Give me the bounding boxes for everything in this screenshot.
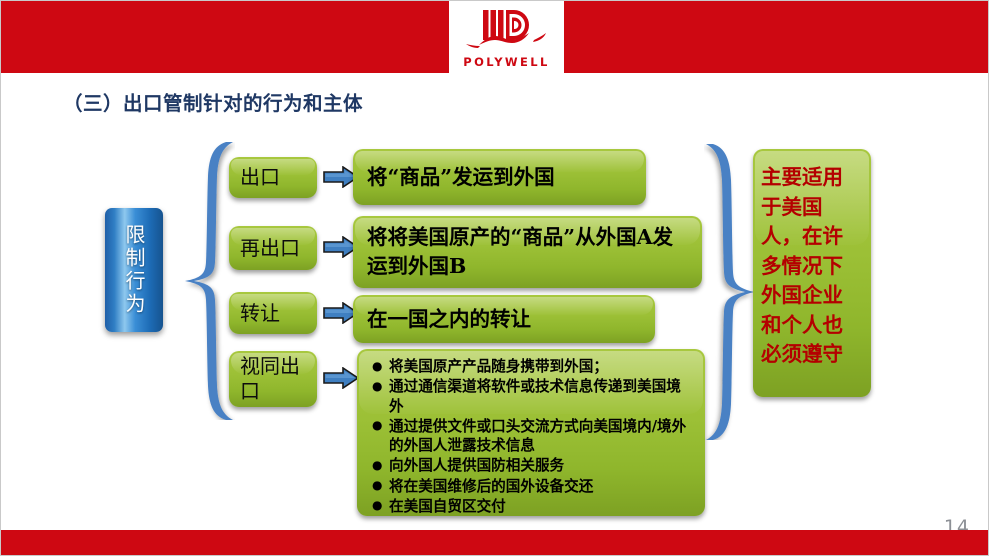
branch-content-export: 将“商品”发运到外国 <box>353 149 646 205</box>
list-item: 将美国原产产品随身携带到外国； <box>387 357 693 377</box>
list-item: 向外国人提供国防相关服务 <box>387 456 693 476</box>
branch-label-transfer: 转让 <box>229 292 317 334</box>
deemed-export-bullet-list: 将美国原产产品随身携带到外国； 通过通信渠道将软件或技术信息传递到美国境外 通过… <box>371 357 693 516</box>
branch-content-transfer: 在一国之内的转让 <box>353 295 655 343</box>
left-brace-icon <box>183 142 235 424</box>
right-brace-icon <box>704 144 756 444</box>
branch-label-text: 再出口 <box>240 236 300 261</box>
branch-label-text: 转让 <box>240 301 280 326</box>
arrow-right-icon <box>323 367 359 389</box>
list-item: 通过通信渠道将软件或技术信息传递到美国境外 <box>387 377 693 416</box>
conclusion-box: 主要适用于美国人，在许多情况下外国企业和个人也必须遵守 <box>753 149 871 397</box>
branch-content-text: 将将美国原产的“商品”从外国A发运到外国B <box>367 223 688 281</box>
list-item: 将在美国维修后的国外设备交还 <box>387 477 693 497</box>
bottom-red-banner <box>1 530 989 556</box>
restricted-behavior-box: 限制行为 <box>105 208 163 332</box>
list-item: 在美国自贸区交付 <box>387 497 693 517</box>
branch-label-text: 视同出口 <box>240 354 306 404</box>
branch-content-reexport: 将将美国原产的“商品”从外国A发运到外国B <box>353 216 702 288</box>
restricted-behavior-label: 限制行为 <box>120 224 148 316</box>
polywell-wordmark: POLYWELL <box>463 56 549 68</box>
slide-canvas: POLYWELL （三）出口管制针对的行为和主体 限制行为 出口 再出口 转让 … <box>0 0 989 556</box>
polywell-p-logo-icon <box>461 7 553 55</box>
branch-content-deemed-export: 将美国原产产品随身携带到外国； 通过通信渠道将软件或技术信息传递到美国境外 通过… <box>357 349 705 516</box>
page-title: （三）出口管制针对的行为和主体 <box>63 87 363 116</box>
list-item: 通过提供文件或口头交流方式向美国境内/境外的外国人泄露技术信息 <box>387 417 693 456</box>
branch-label-deemed-export: 视同出口 <box>229 351 317 407</box>
branch-label-export: 出口 <box>229 157 317 198</box>
branch-content-text: 将“商品”发运到外国 <box>367 163 555 192</box>
branch-content-text: 在一国之内的转让 <box>367 305 531 334</box>
branch-label-reexport: 再出口 <box>229 226 317 270</box>
polywell-logo: POLYWELL <box>449 3 564 77</box>
branch-label-text: 出口 <box>240 165 280 190</box>
conclusion-text: 主要适用于美国人，在许多情况下外国企业和个人也必须遵守 <box>761 163 863 370</box>
